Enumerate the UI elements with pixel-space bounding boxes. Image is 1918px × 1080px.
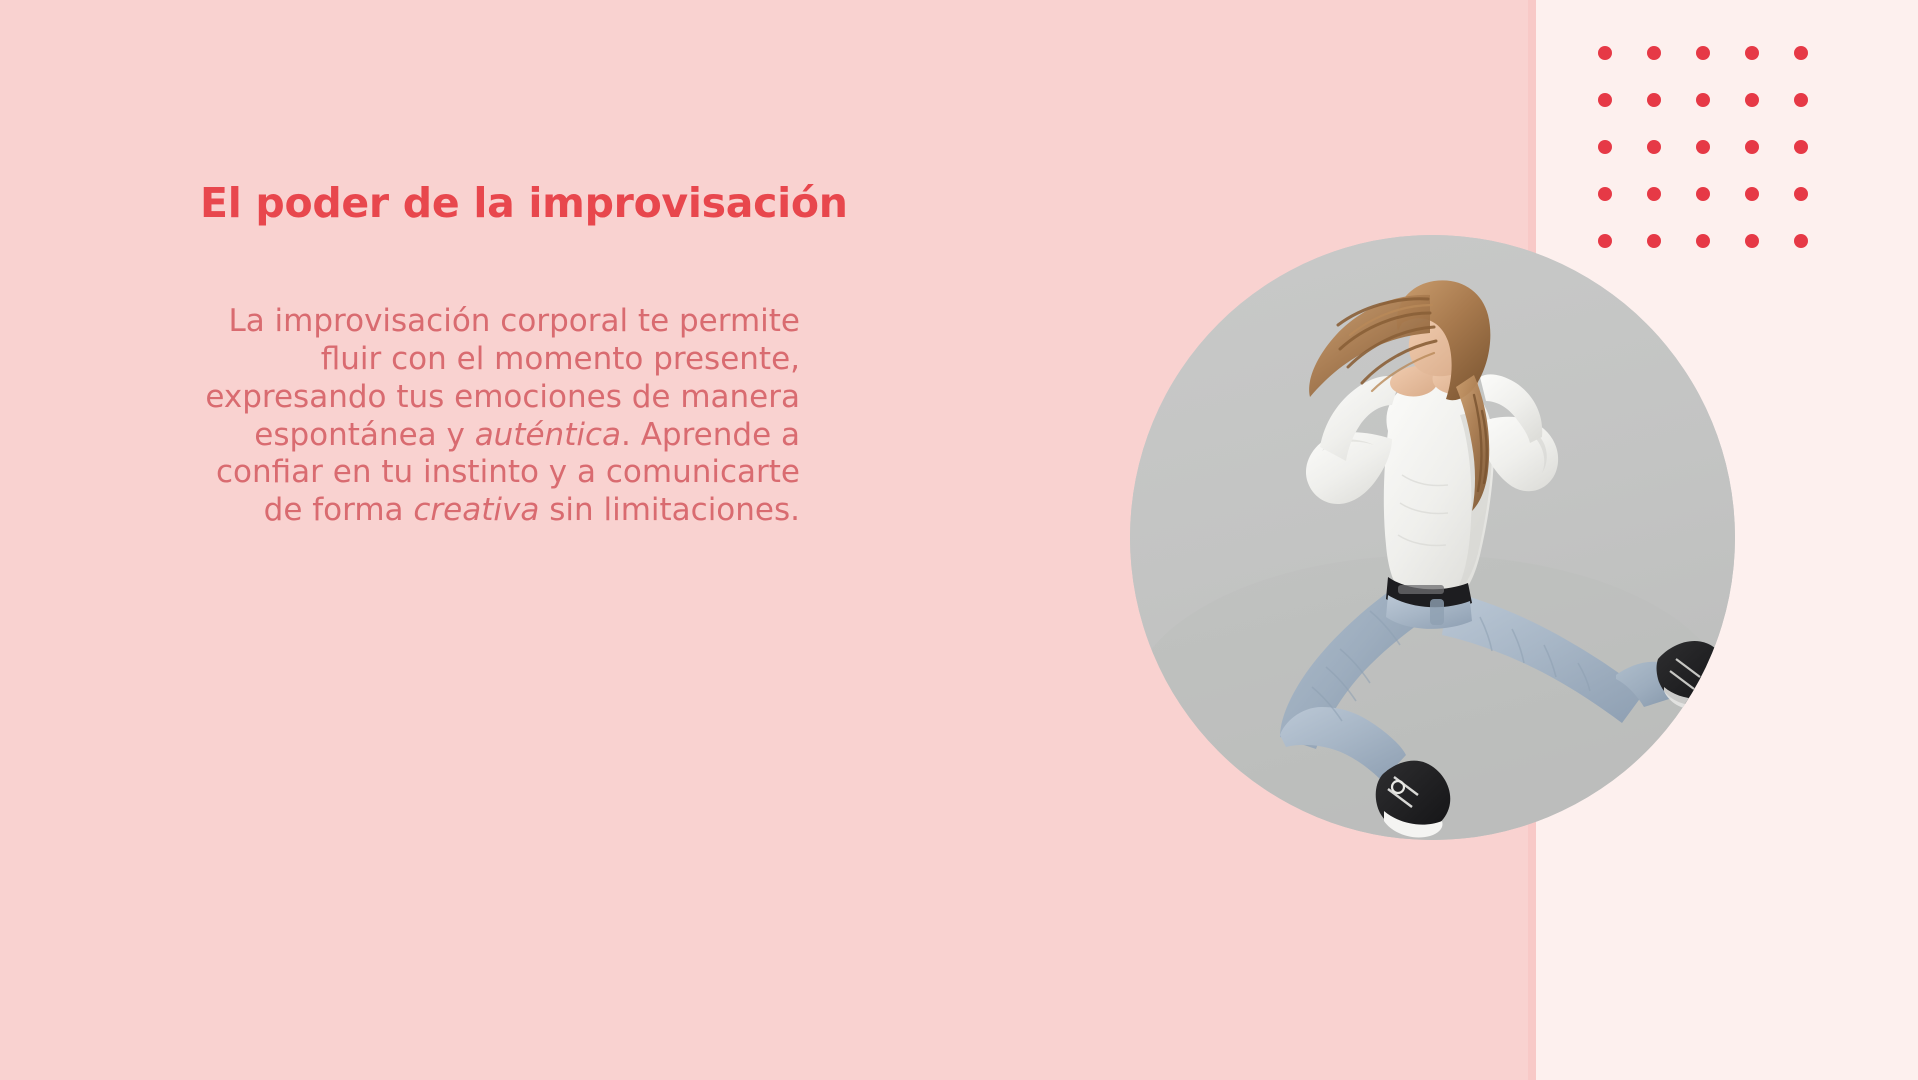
dot-cell: [1745, 187, 1794, 234]
body-text: sin limitaciones.: [539, 492, 800, 528]
dot-cell: [1794, 46, 1843, 93]
slide-canvas: El poder de la improvisación La improvis…: [0, 0, 1918, 1080]
dot-icon: [1745, 140, 1759, 154]
dot-cell: [1598, 140, 1647, 187]
dot-icon: [1745, 46, 1759, 60]
dot-cell: [1598, 93, 1647, 140]
hero-photo-circle: [1130, 235, 1735, 840]
dot-cell: [1745, 93, 1794, 140]
dot-cell: [1647, 140, 1696, 187]
dot-cell: [1696, 234, 1745, 281]
dot-cell: [1696, 93, 1745, 140]
dot-icon: [1696, 234, 1710, 248]
dot-icon: [1598, 187, 1612, 201]
dot-cell: [1696, 140, 1745, 187]
dot-icon: [1794, 234, 1808, 248]
dot-icon: [1696, 93, 1710, 107]
text-column: El poder de la improvisación La improvis…: [200, 180, 800, 530]
dot-cell: [1647, 46, 1696, 93]
dot-icon: [1647, 140, 1661, 154]
body-emphasis: auténtica: [475, 417, 621, 453]
dot-cell: [1696, 46, 1745, 93]
dot-cell: [1647, 187, 1696, 234]
dot-cell: [1696, 187, 1745, 234]
dot-icon: [1647, 234, 1661, 248]
dot-icon: [1598, 93, 1612, 107]
dot-cell: [1598, 234, 1647, 281]
dot-icon: [1794, 46, 1808, 60]
dot-icon: [1598, 140, 1612, 154]
dot-cell: [1598, 187, 1647, 234]
dot-icon: [1598, 234, 1612, 248]
dot-cell: [1794, 234, 1843, 281]
dot-cell: [1745, 140, 1794, 187]
dot-icon: [1745, 93, 1759, 107]
dot-icon: [1647, 187, 1661, 201]
slide-body-paragraph: La improvisación corporal te permite flu…: [200, 303, 800, 530]
slide-title: El poder de la improvisación: [200, 180, 800, 227]
dot-icon: [1696, 140, 1710, 154]
dot-cell: [1794, 93, 1843, 140]
dot-cell: [1794, 187, 1843, 234]
dot-icon: [1598, 46, 1612, 60]
decorative-dot-grid: [1598, 46, 1843, 281]
dot-cell: [1598, 46, 1647, 93]
dot-icon: [1745, 234, 1759, 248]
dot-icon: [1696, 46, 1710, 60]
dot-cell: [1794, 140, 1843, 187]
dot-cell: [1745, 46, 1794, 93]
dot-cell: [1647, 234, 1696, 281]
dot-icon: [1794, 140, 1808, 154]
jumping-woman-illustration: [1130, 235, 1735, 840]
dot-icon: [1647, 93, 1661, 107]
body-emphasis: creativa: [413, 492, 539, 528]
dot-icon: [1794, 187, 1808, 201]
dot-icon: [1696, 187, 1710, 201]
dot-icon: [1745, 187, 1759, 201]
dot-cell: [1647, 93, 1696, 140]
dot-cell: [1745, 234, 1794, 281]
dot-icon: [1647, 46, 1661, 60]
dot-icon: [1794, 93, 1808, 107]
